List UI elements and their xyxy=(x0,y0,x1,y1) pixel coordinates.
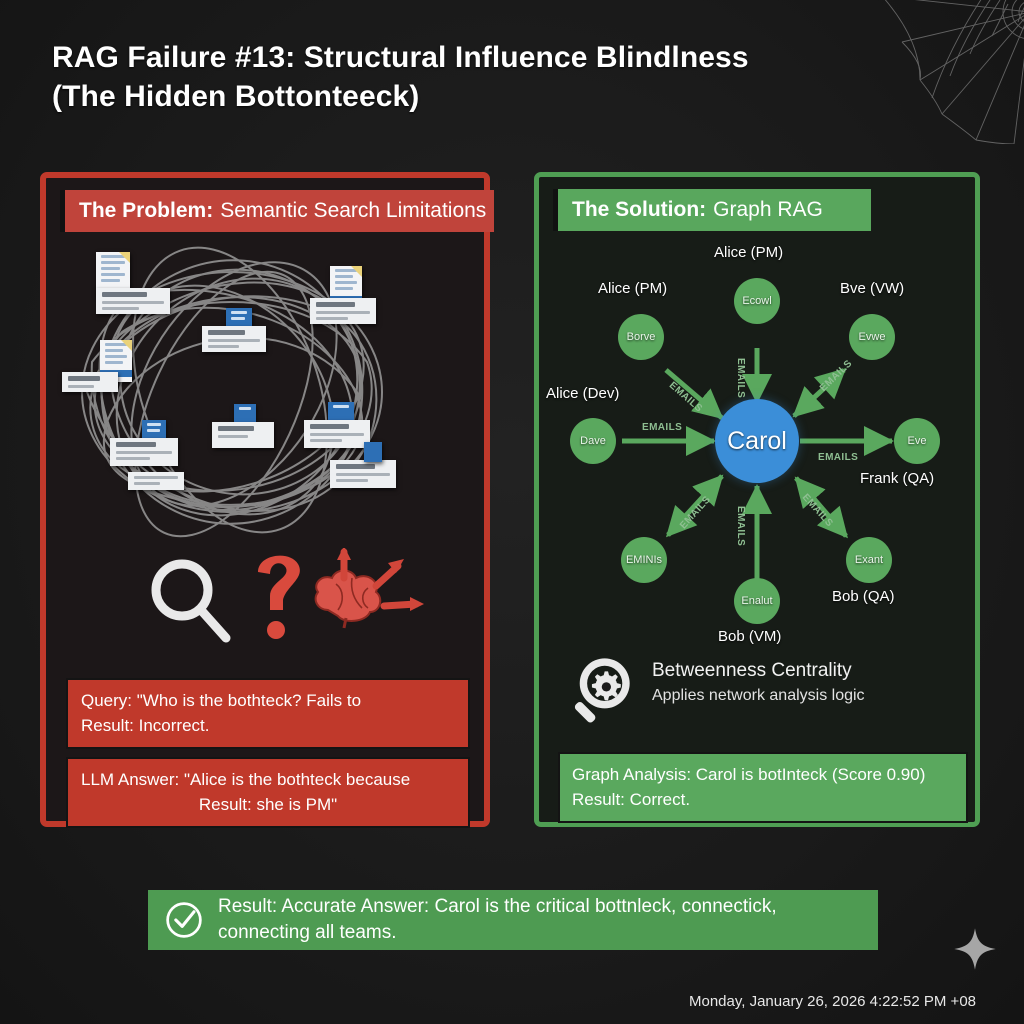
graph-node-caption: Bob (QA) xyxy=(832,588,895,605)
betweenness-centrality-block: Betweenness Centrality Applies network a… xyxy=(560,655,970,725)
problem-header-strong: The Problem: xyxy=(79,199,213,223)
document-card xyxy=(202,326,266,352)
graph-node-label: EMINIs xyxy=(626,554,662,566)
document-card xyxy=(128,472,184,490)
document-cluster xyxy=(52,242,442,552)
graph-analysis-result-line: Result: Correct. xyxy=(572,788,954,813)
query-result-box: Query: "Who is the bothteck? Fails to Re… xyxy=(66,678,470,749)
graph-node-caption: Frank (QA) xyxy=(860,470,934,487)
solution-panel-header: The Solution: Graph RAG xyxy=(553,189,871,231)
graph-analysis-line: Graph Analysis: Carol is botInteck (Scor… xyxy=(572,763,954,788)
graph-node-label: Evwe xyxy=(859,331,886,343)
graph-node-caption: Alice (Dev) xyxy=(546,385,619,402)
graph-edge-label: EMAILS xyxy=(735,506,746,546)
page-title-line2: (The Hidden Bottonteeck) xyxy=(52,77,932,116)
page-title-line1: RAG Failure #13: Structural Influence Bl… xyxy=(52,38,932,77)
problem-panel-header: The Problem: Semantic Search Limitations xyxy=(60,190,494,232)
betweenness-heading: Betweenness Centrality xyxy=(652,659,865,683)
graph-node-label: Enalut xyxy=(741,595,772,607)
graph-node-label: Dave xyxy=(580,435,606,447)
document-card xyxy=(304,420,370,448)
document-card xyxy=(310,298,376,324)
document-card xyxy=(330,460,396,488)
graph-node-caption: Bob (VM) xyxy=(718,628,781,645)
graph-node[interactable]: Enalut xyxy=(734,578,780,624)
result-banner-line2: connecting all teams. xyxy=(218,920,777,946)
timestamp: Monday, January 26, 2026 4:22:52 PM +08 xyxy=(689,993,976,1010)
query-result-line: Result: Incorrect. xyxy=(81,714,455,739)
graph-node-label: Exant xyxy=(855,554,883,566)
graph-analysis-result-box: Graph Analysis: Carol is botInteck (Scor… xyxy=(558,752,968,823)
graph-node[interactable]: Exant xyxy=(846,537,892,583)
document-card xyxy=(110,438,178,466)
result-banner: Result: Accurate Answer: Carol is the cr… xyxy=(148,890,878,950)
graph-node-caption: Alice (PM) xyxy=(714,244,783,261)
graph-edge-label: EMAILS xyxy=(818,452,858,463)
document-card xyxy=(96,288,170,314)
graph-node-label: Borve xyxy=(627,331,656,343)
graph-node[interactable]: Evwe xyxy=(849,314,895,360)
query-line: Query: "Who is the bothteck? Fails to xyxy=(81,689,455,714)
graph-node[interactable]: Dave xyxy=(570,418,616,464)
graph-rag-diagram: Carol Ecowl Alice (PM) Borve Alice (PM) … xyxy=(546,230,970,650)
brain-icon xyxy=(316,571,381,629)
llm-answer-box: LLM Answer: "Alice is the bothteck becau… xyxy=(66,757,470,828)
llm-answer-result-line: Result: she is PM" xyxy=(81,793,455,818)
magnifier-gear-icon xyxy=(564,651,638,725)
graph-node-label: Ecowl xyxy=(742,295,771,307)
graph-edge-label: EMAILS xyxy=(735,358,746,398)
graph-node[interactable]: Eve xyxy=(894,418,940,464)
check-circle-icon xyxy=(164,900,204,940)
graph-node[interactable]: Ecowl xyxy=(734,278,780,324)
solution-header-light: Graph RAG xyxy=(713,198,823,222)
graph-edge-label: EMAILS xyxy=(642,422,682,433)
result-banner-line1: Result: Accurate Answer: Carol is the cr… xyxy=(218,894,777,920)
question-mark-icon xyxy=(258,556,300,639)
graph-node-label: Eve xyxy=(908,435,927,447)
solution-header-strong: The Solution: xyxy=(572,198,706,222)
graph-node-hub[interactable]: Carol xyxy=(715,399,799,483)
graph-node[interactable]: Borve xyxy=(618,314,664,360)
document-icon xyxy=(364,442,382,462)
poster-canvas: RAG Failure #13: Structural Influence Bl… xyxy=(0,0,1024,1024)
document-card xyxy=(212,422,274,448)
problem-header-light: Semantic Search Limitations xyxy=(220,199,486,223)
page-title: RAG Failure #13: Structural Influence Bl… xyxy=(52,38,932,116)
sparkle-icon xyxy=(952,926,998,972)
llm-answer-line: LLM Answer: "Alice is the bothteck becau… xyxy=(81,768,455,793)
graph-node-caption: Bve (VW) xyxy=(840,280,904,297)
betweenness-subtext: Applies network analysis logic xyxy=(652,686,865,707)
magnifier-icon xyxy=(156,564,226,638)
document-card xyxy=(62,372,118,392)
graph-node-hub-label: Carol xyxy=(727,427,787,456)
graph-node[interactable]: EMINIs xyxy=(621,537,667,583)
graph-node-caption: Alice (PM) xyxy=(598,280,667,297)
problem-icon-row xyxy=(140,548,440,653)
